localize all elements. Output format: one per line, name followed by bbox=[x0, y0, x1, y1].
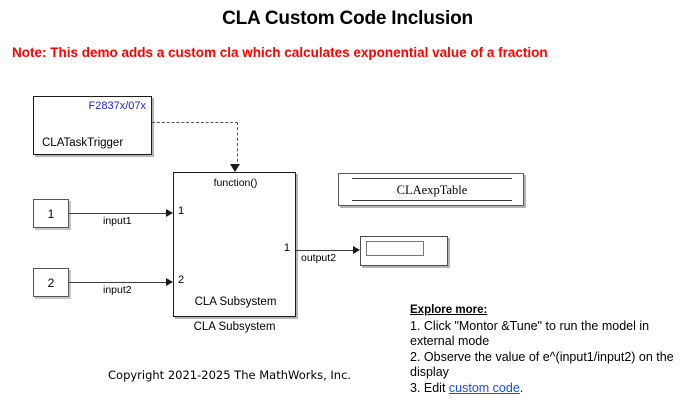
explore-more-heading: Explore more: bbox=[410, 303, 692, 319]
chip-label: F2837x/07x bbox=[89, 100, 146, 112]
function-call-port-label: function() bbox=[174, 177, 297, 189]
display-value-field bbox=[366, 241, 424, 256]
function-call-wire-horizontal bbox=[152, 122, 238, 123]
function-call-wire-vertical bbox=[237, 122, 238, 167]
block-display[interactable] bbox=[360, 236, 448, 266]
model-canvas: CLA Custom Code Inclusion Note: This dem… bbox=[0, 0, 695, 400]
explore-step-3-suffix: . bbox=[520, 381, 523, 395]
block-label-cla-subsystem: CLA Subsystem bbox=[173, 321, 296, 333]
custom-code-link[interactable]: custom code bbox=[449, 381, 520, 395]
port-label-in-1: 1 bbox=[178, 205, 184, 217]
block-cla-subsystem[interactable]: function() 1 2 1 CLA Subsystem bbox=[173, 172, 296, 317]
copyright-text: Copyright 2021-2025 The MathWorks, Inc. bbox=[108, 368, 351, 382]
docblock-rule-bottom bbox=[352, 200, 512, 201]
block-label-claexptable: CLAexpTable bbox=[339, 174, 525, 207]
block-label-inner-cla-subsystem: CLA Subsystem bbox=[174, 296, 297, 308]
arrowhead-input1 bbox=[166, 209, 173, 217]
signal-label-input1: input1 bbox=[103, 215, 132, 227]
function-call-arrowhead bbox=[230, 164, 240, 172]
block-claexptable[interactable]: CLAexpTable bbox=[338, 173, 524, 206]
block-clatasktrigger[interactable]: F2837x/07x CLATaskTrigger bbox=[33, 96, 152, 155]
explore-step-3-prefix: 3. Edit bbox=[410, 381, 449, 395]
port-label-out-1: 1 bbox=[284, 242, 290, 254]
explore-step-2: 2. Observe the value of e^(input1/input2… bbox=[410, 350, 692, 381]
inport-2-value: 2 bbox=[48, 276, 55, 290]
inport-block-2[interactable]: 2 bbox=[33, 268, 69, 297]
explore-step-3: 3. Edit custom code. bbox=[410, 381, 692, 397]
arrowhead-input2 bbox=[166, 278, 173, 286]
note-text: Note: This demo adds a custom cla which … bbox=[12, 45, 548, 60]
signal-label-input2: input2 bbox=[103, 284, 132, 296]
block-label-clatasktrigger: CLATaskTrigger bbox=[42, 137, 123, 149]
arrowhead-output2 bbox=[353, 246, 360, 254]
port-label-in-2: 2 bbox=[178, 274, 184, 286]
inport-1-value: 1 bbox=[48, 207, 55, 221]
page-title: CLA Custom Code Inclusion bbox=[0, 8, 695, 30]
explore-step-1: 1. Click "Montor &Tune" to run the model… bbox=[410, 319, 692, 350]
inport-block-1[interactable]: 1 bbox=[33, 199, 69, 228]
signal-label-output2: output2 bbox=[301, 252, 336, 264]
explore-more-annotation: Explore more: 1. Click "Montor &Tune" to… bbox=[410, 303, 692, 396]
